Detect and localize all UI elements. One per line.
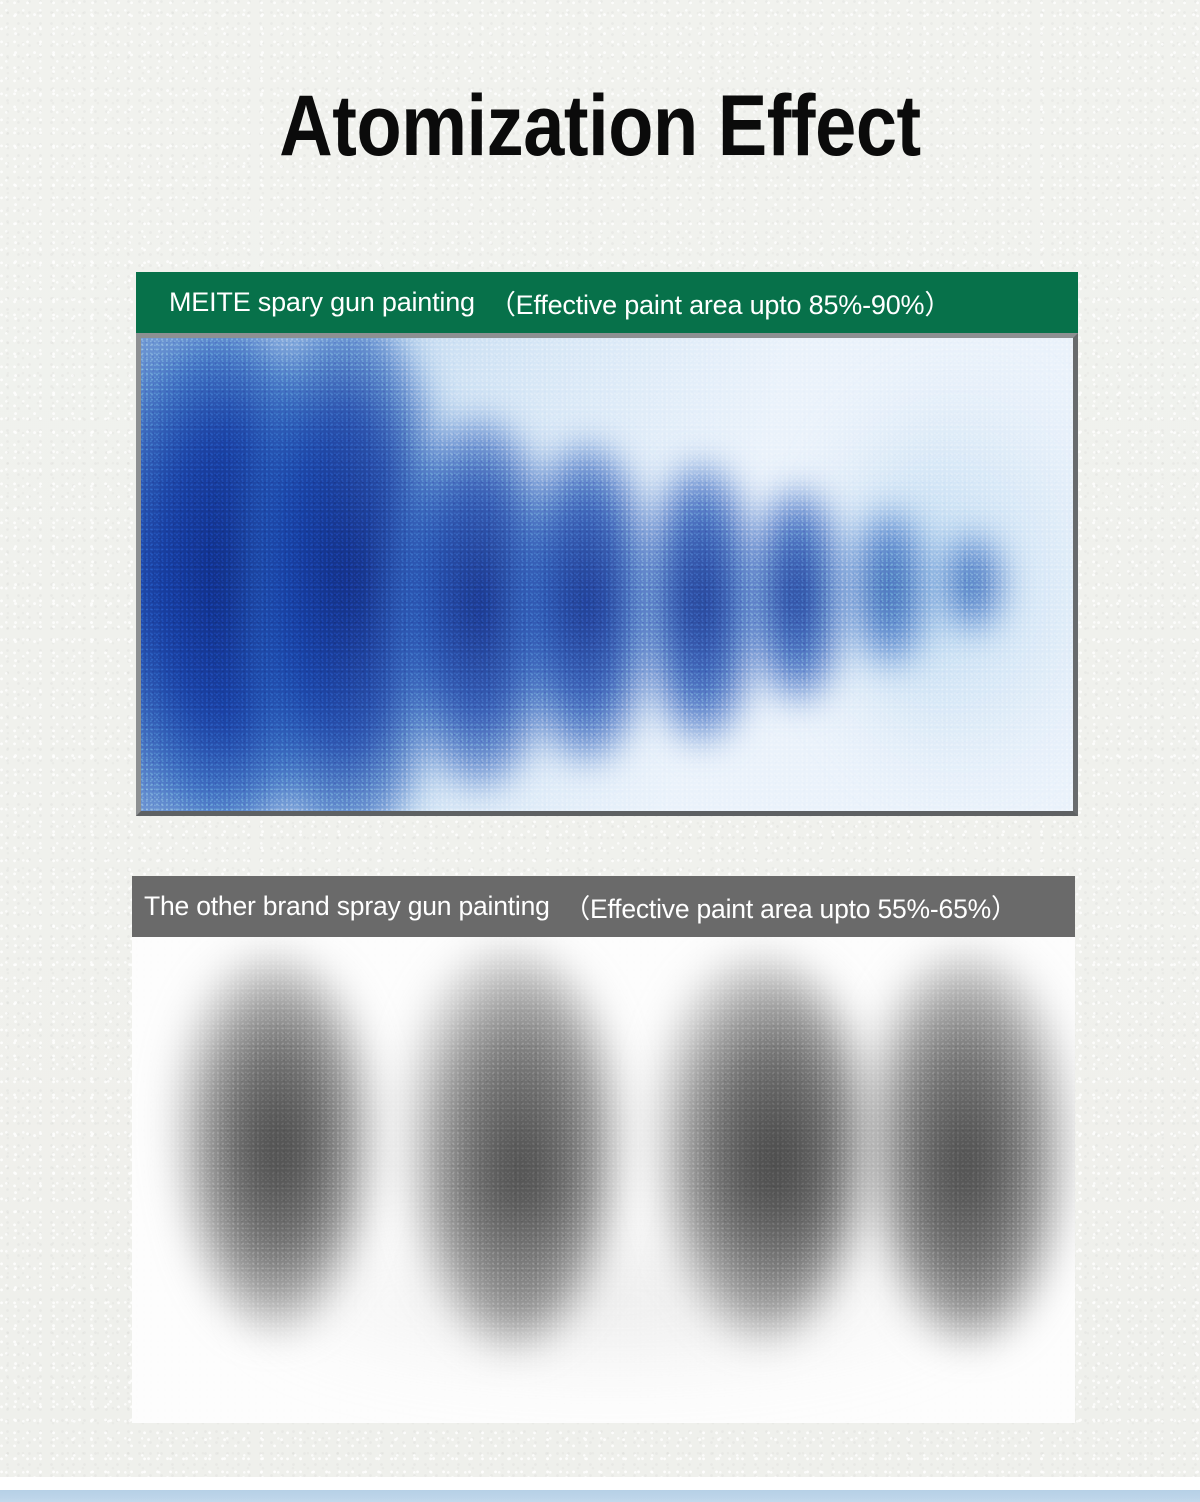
banner-other-brand-lead-text: The other brand spray gun painting: [144, 891, 550, 922]
other-brand-spray-pattern-photo: [132, 937, 1075, 1423]
footer-white-band: [0, 1477, 1200, 1490]
banner-other-brand: The other brand spray gun painting （Effe…: [132, 876, 1075, 937]
banner-meite: MEITE spary gun painting （Effective pain…: [136, 272, 1078, 333]
meite-spray-pattern-photo: [136, 333, 1078, 816]
spray-spot-5: [641, 463, 761, 743]
spray-spot-4: [516, 443, 656, 763]
footer-blue-band: [0, 1490, 1200, 1502]
banner-meite-paren-text: （Effective paint area upto 85%-90%）: [489, 283, 951, 322]
panel-meite: MEITE spary gun painting （Effective pain…: [136, 272, 1078, 816]
page-title: Atomization Effect: [84, 74, 1116, 178]
banner-meite-lead-text: MEITE spary gun painting: [169, 287, 475, 318]
panel-other-brand: The other brand spray gun painting （Effe…: [132, 876, 1075, 1423]
banner-other-brand-paren-text: （Effective paint area upto 55%-65%）: [564, 887, 1018, 926]
spray-smear-light: [252, 1237, 972, 1387]
